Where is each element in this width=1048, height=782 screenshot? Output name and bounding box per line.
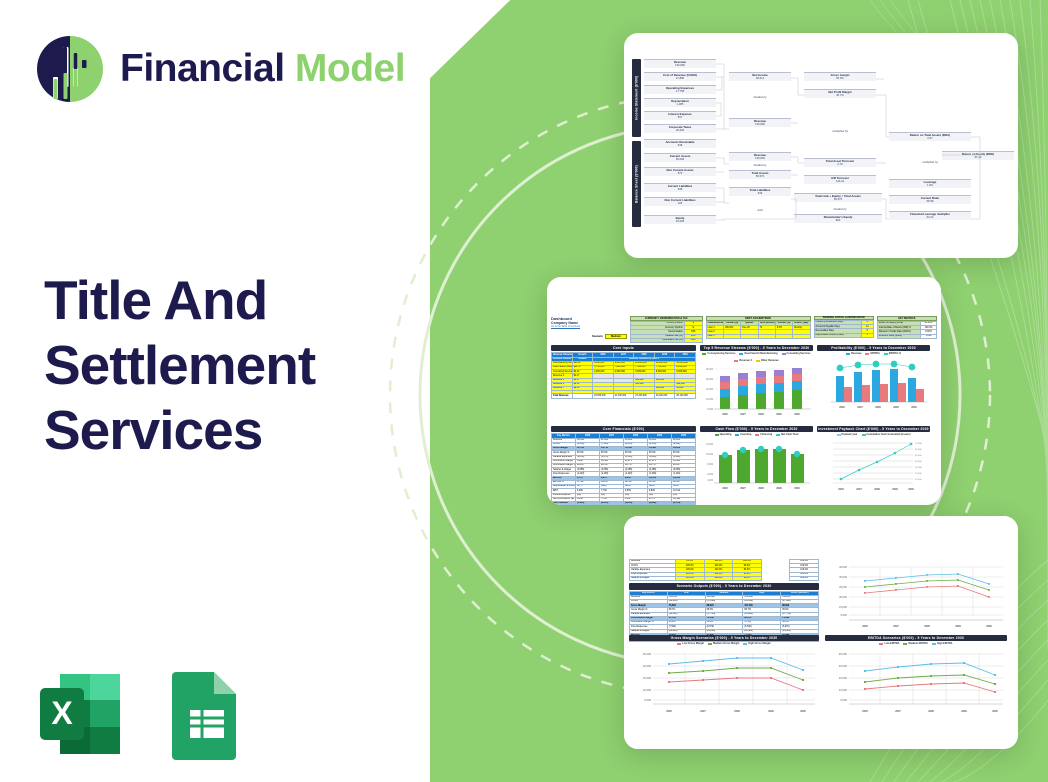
financial-dashboard-screenshot[interactable]: Dashboard Company Name Go to the Table o… xyxy=(547,277,941,505)
svg-text:30,000: 30,000 xyxy=(839,575,847,579)
svg-text:2027: 2027 xyxy=(700,710,706,713)
svg-text:32,000: 32,000 xyxy=(915,467,922,469)
svg-text:25,000: 25,000 xyxy=(839,585,847,589)
svg-text:2026: 2026 xyxy=(722,413,728,416)
page-title-line1: Title And xyxy=(44,269,267,331)
svg-text:2027: 2027 xyxy=(893,625,899,628)
svg-text:2029: 2029 xyxy=(955,625,961,628)
svg-text:35,000: 35,000 xyxy=(839,565,847,569)
svg-text:2029: 2029 xyxy=(776,487,782,490)
pie-bar-chart-logo-icon xyxy=(34,33,106,105)
brand-logo: Financial Model xyxy=(34,33,405,105)
svg-text:8,000: 8,000 xyxy=(707,464,713,466)
table-row-total: Total Revenue18,050,00021,100,00023,100,… xyxy=(552,394,696,398)
svg-text:72,000: 72,000 xyxy=(915,443,922,445)
svg-text:2028: 2028 xyxy=(924,625,930,628)
svg-text:10,000: 10,000 xyxy=(643,688,652,692)
svg-text:12,000: 12,000 xyxy=(706,444,714,446)
app-format-icons: X xyxy=(32,666,246,762)
svg-text:25,000: 25,000 xyxy=(706,369,714,371)
core-financials-title: Core Financials ($'000) xyxy=(551,426,696,432)
profitability-bar-chart: 2026 2027 2028 2029 2030 xyxy=(817,356,930,414)
svg-text:X: X xyxy=(51,695,73,731)
svg-text:42,000: 42,000 xyxy=(915,461,922,463)
microsoft-excel-icon[interactable]: X xyxy=(32,666,128,762)
svg-text:2026: 2026 xyxy=(862,710,868,713)
svg-text:5,000: 5,000 xyxy=(841,613,848,617)
page-title-line3: Services xyxy=(44,399,262,461)
svg-text:12,000: 12,000 xyxy=(915,479,922,481)
working-capital-panel: WORKING CAPITAL & DEPRECIATION Inventory… xyxy=(814,316,874,338)
svg-text:2027: 2027 xyxy=(740,487,746,490)
scenario-dropdown[interactable]: Medium xyxy=(605,334,627,339)
scenario-summary-table: Revenue80.0%100.0%120.0%100.0% COGS105.0… xyxy=(629,559,819,581)
gross-margin-scenarios-line-chart: 25,00020,00015,000 10,0005,000 2026 2027… xyxy=(629,646,819,718)
svg-text:2026: 2026 xyxy=(839,406,845,409)
svg-text:2027: 2027 xyxy=(895,710,901,713)
svg-text:25,000: 25,000 xyxy=(643,652,652,656)
svg-text:10,000: 10,000 xyxy=(706,399,714,401)
revenue-scenarios-line-chart: 35,00030,00025,000 20,00015,0005,000 202… xyxy=(825,559,1007,631)
dashboard-header: Dashboard Company Name Go to the Table o… xyxy=(551,316,627,339)
svg-text:2030: 2030 xyxy=(794,413,800,416)
svg-text:2026: 2026 xyxy=(838,488,844,491)
svg-text:2029: 2029 xyxy=(768,710,774,713)
svg-text:6,000: 6,000 xyxy=(707,474,713,476)
svg-text:15,000: 15,000 xyxy=(643,676,652,680)
svg-text:20,000: 20,000 xyxy=(839,595,847,599)
svg-text:2030: 2030 xyxy=(794,487,800,490)
svg-text:2029: 2029 xyxy=(892,488,898,491)
scenario-analysis-screenshot[interactable]: Revenue80.0%100.0%120.0%100.0% COGS105.0… xyxy=(624,516,1018,749)
svg-text:2030: 2030 xyxy=(986,625,992,628)
brand-wordmark: Financial Model xyxy=(120,47,405,91)
page-title-line2: Settlement xyxy=(44,334,315,396)
svg-text:2028: 2028 xyxy=(874,488,880,491)
dupont-connectors xyxy=(624,33,1018,258)
svg-text:2028: 2028 xyxy=(758,487,764,490)
svg-text:2026: 2026 xyxy=(722,487,728,490)
scenario-label: Scenario xyxy=(592,335,603,338)
svg-text:2027: 2027 xyxy=(740,413,746,416)
svg-text:2030: 2030 xyxy=(992,710,998,713)
dupont-tree: Income Statement ($'000) Balance Sheet (… xyxy=(624,33,1018,258)
investment-payback-line-chart: 72,00062,00052,000 42,00032,00022,00012,… xyxy=(817,437,930,495)
debt-assumptions-panel: DEBT ASSUMPTIONS Loan/Grant Name Amount … xyxy=(706,316,811,339)
svg-text:2027: 2027 xyxy=(856,488,862,491)
svg-text:2028: 2028 xyxy=(734,710,740,713)
svg-text:15,000: 15,000 xyxy=(839,605,847,609)
svg-text:52,000: 52,000 xyxy=(915,455,922,457)
svg-text:2030: 2030 xyxy=(800,710,806,713)
table-row: Salaries & Wages105.0%100.0%95.0%100.0% xyxy=(630,576,819,580)
svg-text:2029: 2029 xyxy=(893,406,899,409)
svg-text:2029: 2029 xyxy=(961,710,967,713)
svg-text:20,000: 20,000 xyxy=(706,379,714,381)
cash-flow-bar-chart: 12,00010,000 8,0006,0004,000 2026 2 xyxy=(700,437,813,495)
svg-text:4,000: 4,000 xyxy=(707,480,713,482)
svg-text:22,000: 22,000 xyxy=(915,473,922,475)
svg-text:2026: 2026 xyxy=(862,625,868,628)
brand-name-part1: Financial xyxy=(120,47,285,90)
svg-text:2028: 2028 xyxy=(758,413,764,416)
svg-text:15,000: 15,000 xyxy=(839,676,848,680)
svg-text:15,000: 15,000 xyxy=(706,389,714,391)
svg-text:2027: 2027 xyxy=(857,406,863,409)
svg-text:2030: 2030 xyxy=(911,406,917,409)
page-title: Title And Settlement Services xyxy=(44,268,444,463)
svg-text:25,000: 25,000 xyxy=(839,652,848,656)
currency-panel: CURRENCY, DENOMINATION & TAX Currency Na… xyxy=(630,316,703,343)
svg-text:2028: 2028 xyxy=(928,710,934,713)
brand-name-part2: Model xyxy=(295,47,405,90)
svg-text:2028: 2028 xyxy=(875,406,881,409)
dupont-analysis-screenshot[interactable]: Income Statement ($'000) Balance Sheet (… xyxy=(624,33,1018,258)
svg-text:62,000: 62,000 xyxy=(915,449,922,451)
svg-text:2030: 2030 xyxy=(908,488,914,491)
svg-text:20,000: 20,000 xyxy=(643,664,652,668)
ebitda-scenarios-line-chart: 25,00020,00015,000 10,0005,000 2026 2027… xyxy=(825,646,1007,718)
svg-text:2029: 2029 xyxy=(776,413,782,416)
svg-text:10,000: 10,000 xyxy=(706,454,714,456)
google-sheets-icon[interactable] xyxy=(166,666,246,762)
table-row: Tax Provision(1,920)(2,315)(2,853)(2,932… xyxy=(552,502,696,505)
core-inputs-title: Core Inputs xyxy=(551,345,696,351)
revenue-streams-stacked-bar-chart: 25,00020,000 15,00010,0005,000 2026 2027 xyxy=(700,363,813,421)
scenario-outputs-title: Scenario Outputs ($'000) - 5 Years to De… xyxy=(629,583,819,589)
svg-text:5,000: 5,000 xyxy=(644,698,651,702)
svg-text:20,000: 20,000 xyxy=(839,664,848,668)
revenue-chart-legend: Conveyancing Services Deed Search Manufa… xyxy=(700,351,813,363)
svg-text:5,000: 5,000 xyxy=(840,698,847,702)
svg-text:10,000: 10,000 xyxy=(839,688,848,692)
svg-text:2026: 2026 xyxy=(666,710,672,713)
key-metrics-panel: KEY METRICS Return on Equity (ROE)61.40%… xyxy=(877,316,937,339)
svg-text:5,000: 5,000 xyxy=(707,409,713,411)
